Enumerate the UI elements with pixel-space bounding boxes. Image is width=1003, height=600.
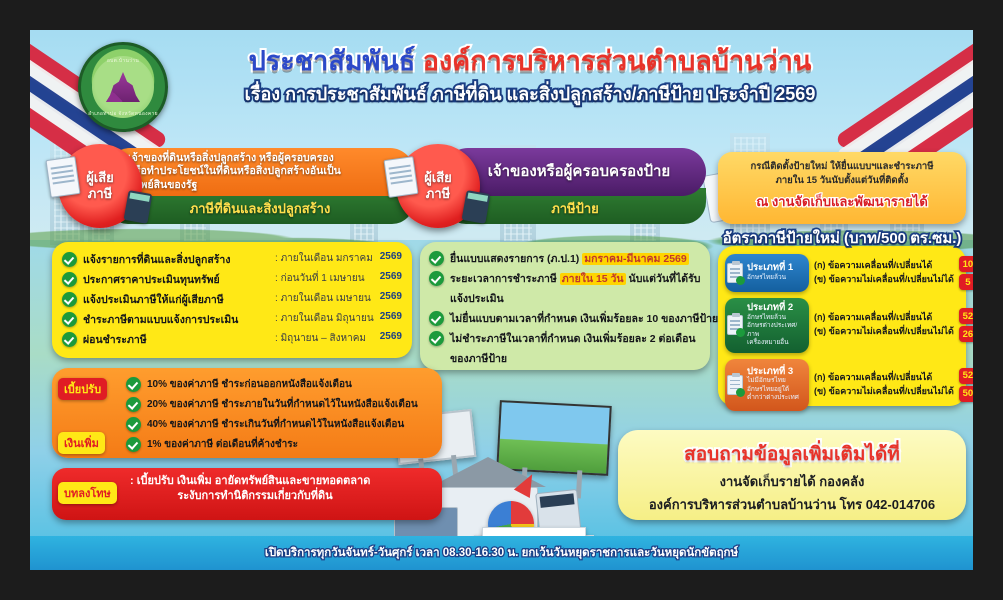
rate-value-b: 26 bbox=[959, 326, 973, 342]
criminal-line-1: : เบี้ยปรับ เงินเพิ่ม อายัดทรัพย์สินและข… bbox=[130, 474, 432, 489]
land-tax-description: เจ้าของที่ดินหรือสิ่งปลูกสร้าง หรือผู้คร… bbox=[128, 152, 341, 193]
list-item: 10% ของค่าภาษี ชำระก่อนออกหนังสือแจ้งเตื… bbox=[126, 376, 432, 392]
document-icon bbox=[384, 156, 419, 198]
list-item: ไม่ชำระภาษีในเวลาที่กำหนด เงินเพิ่มร้อยล… bbox=[429, 330, 701, 347]
check-icon bbox=[126, 417, 141, 432]
penalty-text: 40% ของค่าภาษี ชำระเกินวันที่กำหนดไว้ในห… bbox=[147, 417, 404, 432]
subtitle: เรื่อง การประชาสัมพันธ์ ภาษีที่ดิน และสิ… bbox=[180, 79, 880, 108]
check-icon bbox=[62, 332, 77, 347]
sign-item-text: ยื่นแบบแสดงรายการ (ภ.ป.1) bbox=[450, 253, 579, 265]
check-icon bbox=[62, 312, 77, 327]
taxpayer-badge-line1: ผู้เสีย bbox=[86, 170, 114, 186]
sign-tax-category-header: ภาษีป้าย เจ้าของหรือผู้ครอบครองป้าย ผู้เ… bbox=[396, 148, 708, 228]
land-tax-desc-line-1: เจ้าของที่ดินหรือสิ่งปลูกสร้าง หรือผู้คร… bbox=[128, 152, 341, 166]
rate-table-title: อัตราภาษีป้ายใหม่ (บาท/500 ตร.ซม.) bbox=[718, 226, 966, 250]
check-icon bbox=[429, 331, 444, 346]
criminal-penalty-panel: บทลงโทษ : เบี้ยปรับ เงินเพิ่ม อายัดทรัพย… bbox=[52, 468, 442, 520]
penalty-text: 10% ของค่าภาษี ชำระก่อนออกหนังสือแจ้งเตื… bbox=[147, 377, 352, 392]
schedule-value: : มิถุนายน – สิงหาคม bbox=[275, 331, 374, 346]
rate-category-title: ประเภทที่ 2 bbox=[747, 303, 805, 314]
rate-value-b: 50 bbox=[959, 386, 973, 402]
criminal-line-2: ระงับการทำนิติกรรมเกี่ยวกับที่ดิน bbox=[78, 489, 432, 504]
clipboard-icon bbox=[727, 375, 743, 395]
sign-item-text: แจ้งประเมิน bbox=[450, 290, 504, 307]
rate-category-title: ประเภทที่ 3 bbox=[747, 367, 805, 378]
footer-text: เปิดบริการทุกวันจันทร์-วันศุกร์ เวลา 08.… bbox=[265, 544, 738, 562]
taxpayer-badge-sign: ผู้เสีย ภาษี bbox=[396, 144, 480, 228]
rate-values: 10 5 bbox=[959, 256, 973, 290]
schedule-year: 2569 bbox=[380, 291, 402, 302]
check-icon bbox=[126, 397, 141, 412]
table-row: ประเภทที่ 2 อักษรไทยล้วน อักษรต่างประเทศ… bbox=[725, 298, 959, 353]
rate-line-a: (ก) ข้อความเคลื่อนที่/เปลี่ยนได้ bbox=[814, 371, 954, 385]
list-item-continued: แจ้งประเมิน bbox=[429, 290, 701, 307]
table-row: แจ้งประเมินภาษีให้แก่ผู้เสียภาษี : ภายใน… bbox=[62, 291, 402, 308]
check-icon bbox=[736, 276, 745, 285]
criminal-tag: บทลงโทษ bbox=[58, 482, 117, 504]
emblem-top-caption: อบต.บ้านว่าน bbox=[81, 57, 165, 65]
rate-line-a: (ก) ข้อความเคลื่อนที่/เปลี่ยนได้ bbox=[814, 259, 954, 273]
check-icon bbox=[429, 311, 444, 326]
rate-category-sub-1: ไม่มีอักษรไทย bbox=[747, 377, 805, 385]
organization-emblem: อบต.บ้านว่าน อำเภอท่าบ่อ จังหวัดหนองคาย bbox=[78, 42, 168, 132]
rate-category-title: ประเภทที่ 1 bbox=[747, 263, 805, 274]
schedule-year: 2569 bbox=[380, 251, 402, 262]
list-item: 40% ของค่าภาษี ชำระเกินวันที่กำหนดไว้ในห… bbox=[126, 416, 432, 432]
sign-item-text: ของภาษีป้าย bbox=[450, 350, 507, 367]
check-icon bbox=[126, 377, 141, 392]
emblem-inner bbox=[92, 56, 154, 118]
clipboard-icon bbox=[727, 315, 743, 335]
table-row: ประกาศราคาประเมินทุนทรัพย์ : ก่อนวันที่ … bbox=[62, 271, 402, 288]
schedule-value: : ภายในเดือน มกราคม bbox=[275, 251, 374, 266]
check-icon bbox=[62, 272, 77, 287]
sign-tax-info-panel: ยื่นแบบแสดงรายการ (ภ.ป.1) มกราคม-มีนาคม … bbox=[420, 242, 710, 370]
list-item: ยื่นแบบแสดงรายการ (ภ.ป.1) มกราคม-มีนาคม … bbox=[429, 250, 701, 267]
rate-category-3: ประเภทที่ 3 ไม่มีอักษรไทย อักษรไทยอยู่ใต… bbox=[725, 359, 809, 411]
poster-canvas: อบต.บ้านว่าน อำเภอท่าบ่อ จังหวัดหนองคาย … bbox=[30, 30, 973, 570]
penalty-panel: เบี้ยปรับ เงินเพิ่ม 10% ของค่าภาษี ชำระก… bbox=[52, 368, 442, 458]
list-item: 1% ของค่าภาษี ต่อเดือนที่ค้างชำระ bbox=[126, 436, 432, 452]
notice-line-3: ณ งานจัดเก็บและพัฒนารายได้ bbox=[728, 191, 956, 212]
check-icon bbox=[126, 437, 141, 452]
rate-value-b: 5 bbox=[959, 274, 973, 290]
contact-line-1: งานจัดเก็บรายได้ กองคลัง bbox=[628, 473, 956, 492]
rate-category-sub-3: เครื่องหมายอื่น bbox=[747, 339, 805, 347]
rate-lines: (ก) ข้อความเคลื่อนที่/เปลี่ยนได้ (ข) ข้อ… bbox=[814, 311, 954, 339]
check-icon bbox=[62, 252, 77, 267]
calculator-icon bbox=[462, 190, 491, 224]
rate-line-b: (ข) ข้อความไม่เคลื่อนที่/เปลี่ยนไม่ได้ bbox=[814, 385, 954, 399]
check-icon bbox=[429, 251, 444, 266]
penalty-text: 20% ของค่าภาษี ชำระภายในวันที่กำหนดไว้ใน… bbox=[147, 397, 418, 412]
temple-icon bbox=[106, 72, 140, 102]
rate-line-b: (ข) ข้อความไม่เคลื่อนที่/เปลี่ยนไม่ได้ bbox=[814, 325, 954, 339]
main-title-red: องค์การบริหารส่วนตำบลบ้านว่าน bbox=[423, 46, 812, 76]
table-row: ประเภทที่ 3 ไม่มีอักษรไทย อักษรไทยอยู่ใต… bbox=[725, 359, 959, 411]
schedule-year: 2569 bbox=[380, 271, 402, 282]
main-title-blue: ประชาสัมพันธ์ bbox=[249, 46, 416, 76]
schedule-value: : ภายในเดือน เมษายน bbox=[275, 291, 374, 306]
sign-item-highlight: มกราคม-มีนาคม 2569 bbox=[582, 253, 688, 265]
land-tax-tab-label: ภาษีที่ดินและสิ่งปลูกสร้าง bbox=[190, 198, 331, 219]
rate-value-a: 52 bbox=[959, 368, 973, 384]
footer-bar: เปิดบริการทุกวันจันทร์-วันศุกร์ เวลา 08.… bbox=[30, 536, 973, 570]
land-tax-banner: เจ้าของที่ดินหรือสิ่งปลูกสร้าง หรือผู้คร… bbox=[106, 148, 414, 196]
rate-value-a: 52 bbox=[959, 308, 973, 324]
land-tax-desc-line-2: หรือทำประโยชน์ในที่ดินหรือสิ่งปลูกสร้างอ… bbox=[128, 165, 341, 179]
schedule-value: : ภายในเดือน มิถุนายน bbox=[275, 311, 374, 326]
contact-panel: สอบถามข้อมูลเพิ่มเติมได้ที่ งานจัดเก็บรา… bbox=[618, 430, 966, 520]
rate-lines: (ก) ข้อความเคลื่อนที่/เปลี่ยนได้ (ข) ข้อ… bbox=[814, 259, 954, 287]
main-title: ประชาสัมพันธ์ องค์การบริหารส่วนตำบลบ้านว… bbox=[180, 46, 880, 76]
new-sign-notice-panel: กรณีติดตั้งป้ายใหม่ ให้ยื่นแบบฯและชำระภา… bbox=[718, 152, 966, 224]
land-tax-desc-line-3: ทรัพย์สินของรัฐ bbox=[128, 179, 341, 193]
rate-category-2: ประเภทที่ 2 อักษรไทยล้วน อักษรต่างประเทศ… bbox=[725, 298, 809, 353]
land-tax-schedule-list: แจ้งรายการที่ดินและสิ่งปลูกสร้าง : ภายใน… bbox=[62, 251, 402, 348]
sign-item-text: ไม่ยื่นแบบตามเวลาที่กำหนด เงินเพิ่มร้อยล… bbox=[450, 310, 718, 327]
table-row: แจ้งรายการที่ดินและสิ่งปลูกสร้าง : ภายใน… bbox=[62, 251, 402, 268]
table-row: ผ่อนชำระภาษี : มิถุนายน – สิงหาคม 2569 bbox=[62, 331, 402, 348]
schedule-value: : ก่อนวันที่ 1 เมษายน bbox=[275, 271, 374, 286]
schedule-label: แจ้งประเมินภาษีให้แก่ผู้เสียภาษี bbox=[83, 291, 269, 308]
rate-value-a: 10 bbox=[959, 256, 973, 272]
sign-item-post: นับแต่วันที่ได้รับ bbox=[629, 273, 701, 285]
sign-item-text: ระยะเวลาการชำระภาษี bbox=[450, 273, 557, 285]
clipboard-icon bbox=[727, 263, 743, 283]
taxpayer-badge-line2: ภาษี bbox=[426, 186, 450, 202]
list-item: 20% ของค่าภาษี ชำระภายในวันที่กำหนดไว้ใน… bbox=[126, 396, 432, 412]
rate-category-sub-3: ต่ำกว่าต่างประเทศ bbox=[747, 394, 805, 402]
rate-category-sub: อักษรไทยล้วน bbox=[747, 274, 805, 282]
list-item: ระยะเวลาการชำระภาษี ภายใน 15 วัน นับแต่ว… bbox=[429, 270, 701, 287]
document-icon bbox=[46, 156, 81, 198]
surcharge-tag: เงินเพิ่ม bbox=[58, 432, 105, 454]
schedule-label: ชำระภาษีตามแบบแจ้งการประเมิน bbox=[83, 311, 269, 328]
rate-line-b: (ข) ข้อความไม่เคลื่อนที่/เปลี่ยนไม่ได้ bbox=[814, 273, 954, 287]
contact-heading: สอบถามข้อมูลเพิ่มเติมได้ที่ bbox=[628, 439, 956, 469]
sign-tax-banner: เจ้าของหรือผู้ครอบครองป้าย bbox=[444, 148, 706, 196]
schedule-label: ประกาศราคาประเมินทุนทรัพย์ bbox=[83, 271, 269, 288]
taxpayer-badge-land: ผู้เสีย ภาษี bbox=[58, 144, 142, 228]
schedule-label: ผ่อนชำระภาษี bbox=[83, 331, 269, 348]
taxpayer-badge-line1: ผู้เสีย bbox=[424, 170, 452, 186]
rate-table-title-text: อัตราภาษีป้ายใหม่ (บาท/500 ตร.ซม.) bbox=[723, 230, 962, 247]
rate-values: 52 50 bbox=[959, 368, 973, 402]
notice-line-1: กรณีติดตั้งป้ายใหม่ ให้ยื่นแบบฯและชำระภา… bbox=[728, 160, 956, 174]
rate-category-1: ประเภทที่ 1 อักษรไทยล้วน bbox=[725, 254, 809, 292]
rate-category-sub-2: อักษรต่างประเทศ/ภาพ bbox=[747, 322, 805, 339]
check-icon bbox=[62, 292, 77, 307]
table-row: ประเภทที่ 1 อักษรไทยล้วน (ก) ข้อความเคลื… bbox=[725, 254, 959, 292]
fine-tag: เบี้ยปรับ bbox=[58, 378, 107, 400]
sign-item-highlight: ภายใน 15 วัน bbox=[560, 273, 626, 285]
rate-values: 52 26 bbox=[959, 308, 973, 342]
land-tax-category-header: ภาษีที่ดินและสิ่งปลูกสร้าง เจ้าของที่ดิน… bbox=[58, 148, 414, 228]
header-title-block: ประชาสัมพันธ์ องค์การบริหารส่วนตำบลบ้านว… bbox=[180, 46, 880, 108]
sign-rate-table-panel: ประเภทที่ 1 อักษรไทยล้วน (ก) ข้อความเคลื… bbox=[718, 246, 966, 406]
table-row: ชำระภาษีตามแบบแจ้งการประเมิน : ภายในเดือ… bbox=[62, 311, 402, 328]
emblem-bottom-caption: อำเภอท่าบ่อ จังหวัดหนองคาย bbox=[81, 110, 165, 118]
penalty-text: 1% ของค่าภาษี ต่อเดือนที่ค้างชำระ bbox=[147, 437, 298, 452]
taxpayer-badge-line2: ภาษี bbox=[88, 186, 112, 202]
rate-lines: (ก) ข้อความเคลื่อนที่/เปลี่ยนได้ (ข) ข้อ… bbox=[814, 371, 954, 399]
schedule-year: 2569 bbox=[380, 311, 402, 322]
list-item-continued: ของภาษีป้าย bbox=[429, 350, 701, 367]
schedule-year: 2569 bbox=[380, 331, 402, 342]
schedule-label: แจ้งรายการที่ดินและสิ่งปลูกสร้าง bbox=[83, 251, 269, 268]
check-icon bbox=[736, 328, 745, 337]
list-item: ไม่ยื่นแบบตามเวลาที่กำหนด เงินเพิ่มร้อยล… bbox=[429, 310, 701, 327]
land-tax-schedule-panel: แจ้งรายการที่ดินและสิ่งปลูกสร้าง : ภายใน… bbox=[52, 242, 412, 358]
notice-line-2: ภายใน 15 วันนับตั้งแต่วันที่ติดตั้ง bbox=[728, 174, 956, 188]
rate-line-a: (ก) ข้อความเคลื่อนที่/เปลี่ยนได้ bbox=[814, 311, 954, 325]
sign-tax-tab-label: ภาษีป้าย bbox=[551, 198, 599, 219]
contact-line-2: องค์การบริหารส่วนตำบลบ้านว่าน โทร 042-01… bbox=[628, 496, 956, 515]
sign-item-text: ไม่ชำระภาษีในเวลาที่กำหนด เงินเพิ่มร้อยล… bbox=[450, 330, 696, 347]
calculator-icon bbox=[124, 190, 153, 224]
sign-tax-description: เจ้าของหรือผู้ครอบครองป้าย bbox=[488, 162, 670, 182]
check-icon bbox=[736, 388, 745, 397]
check-icon bbox=[429, 271, 444, 286]
